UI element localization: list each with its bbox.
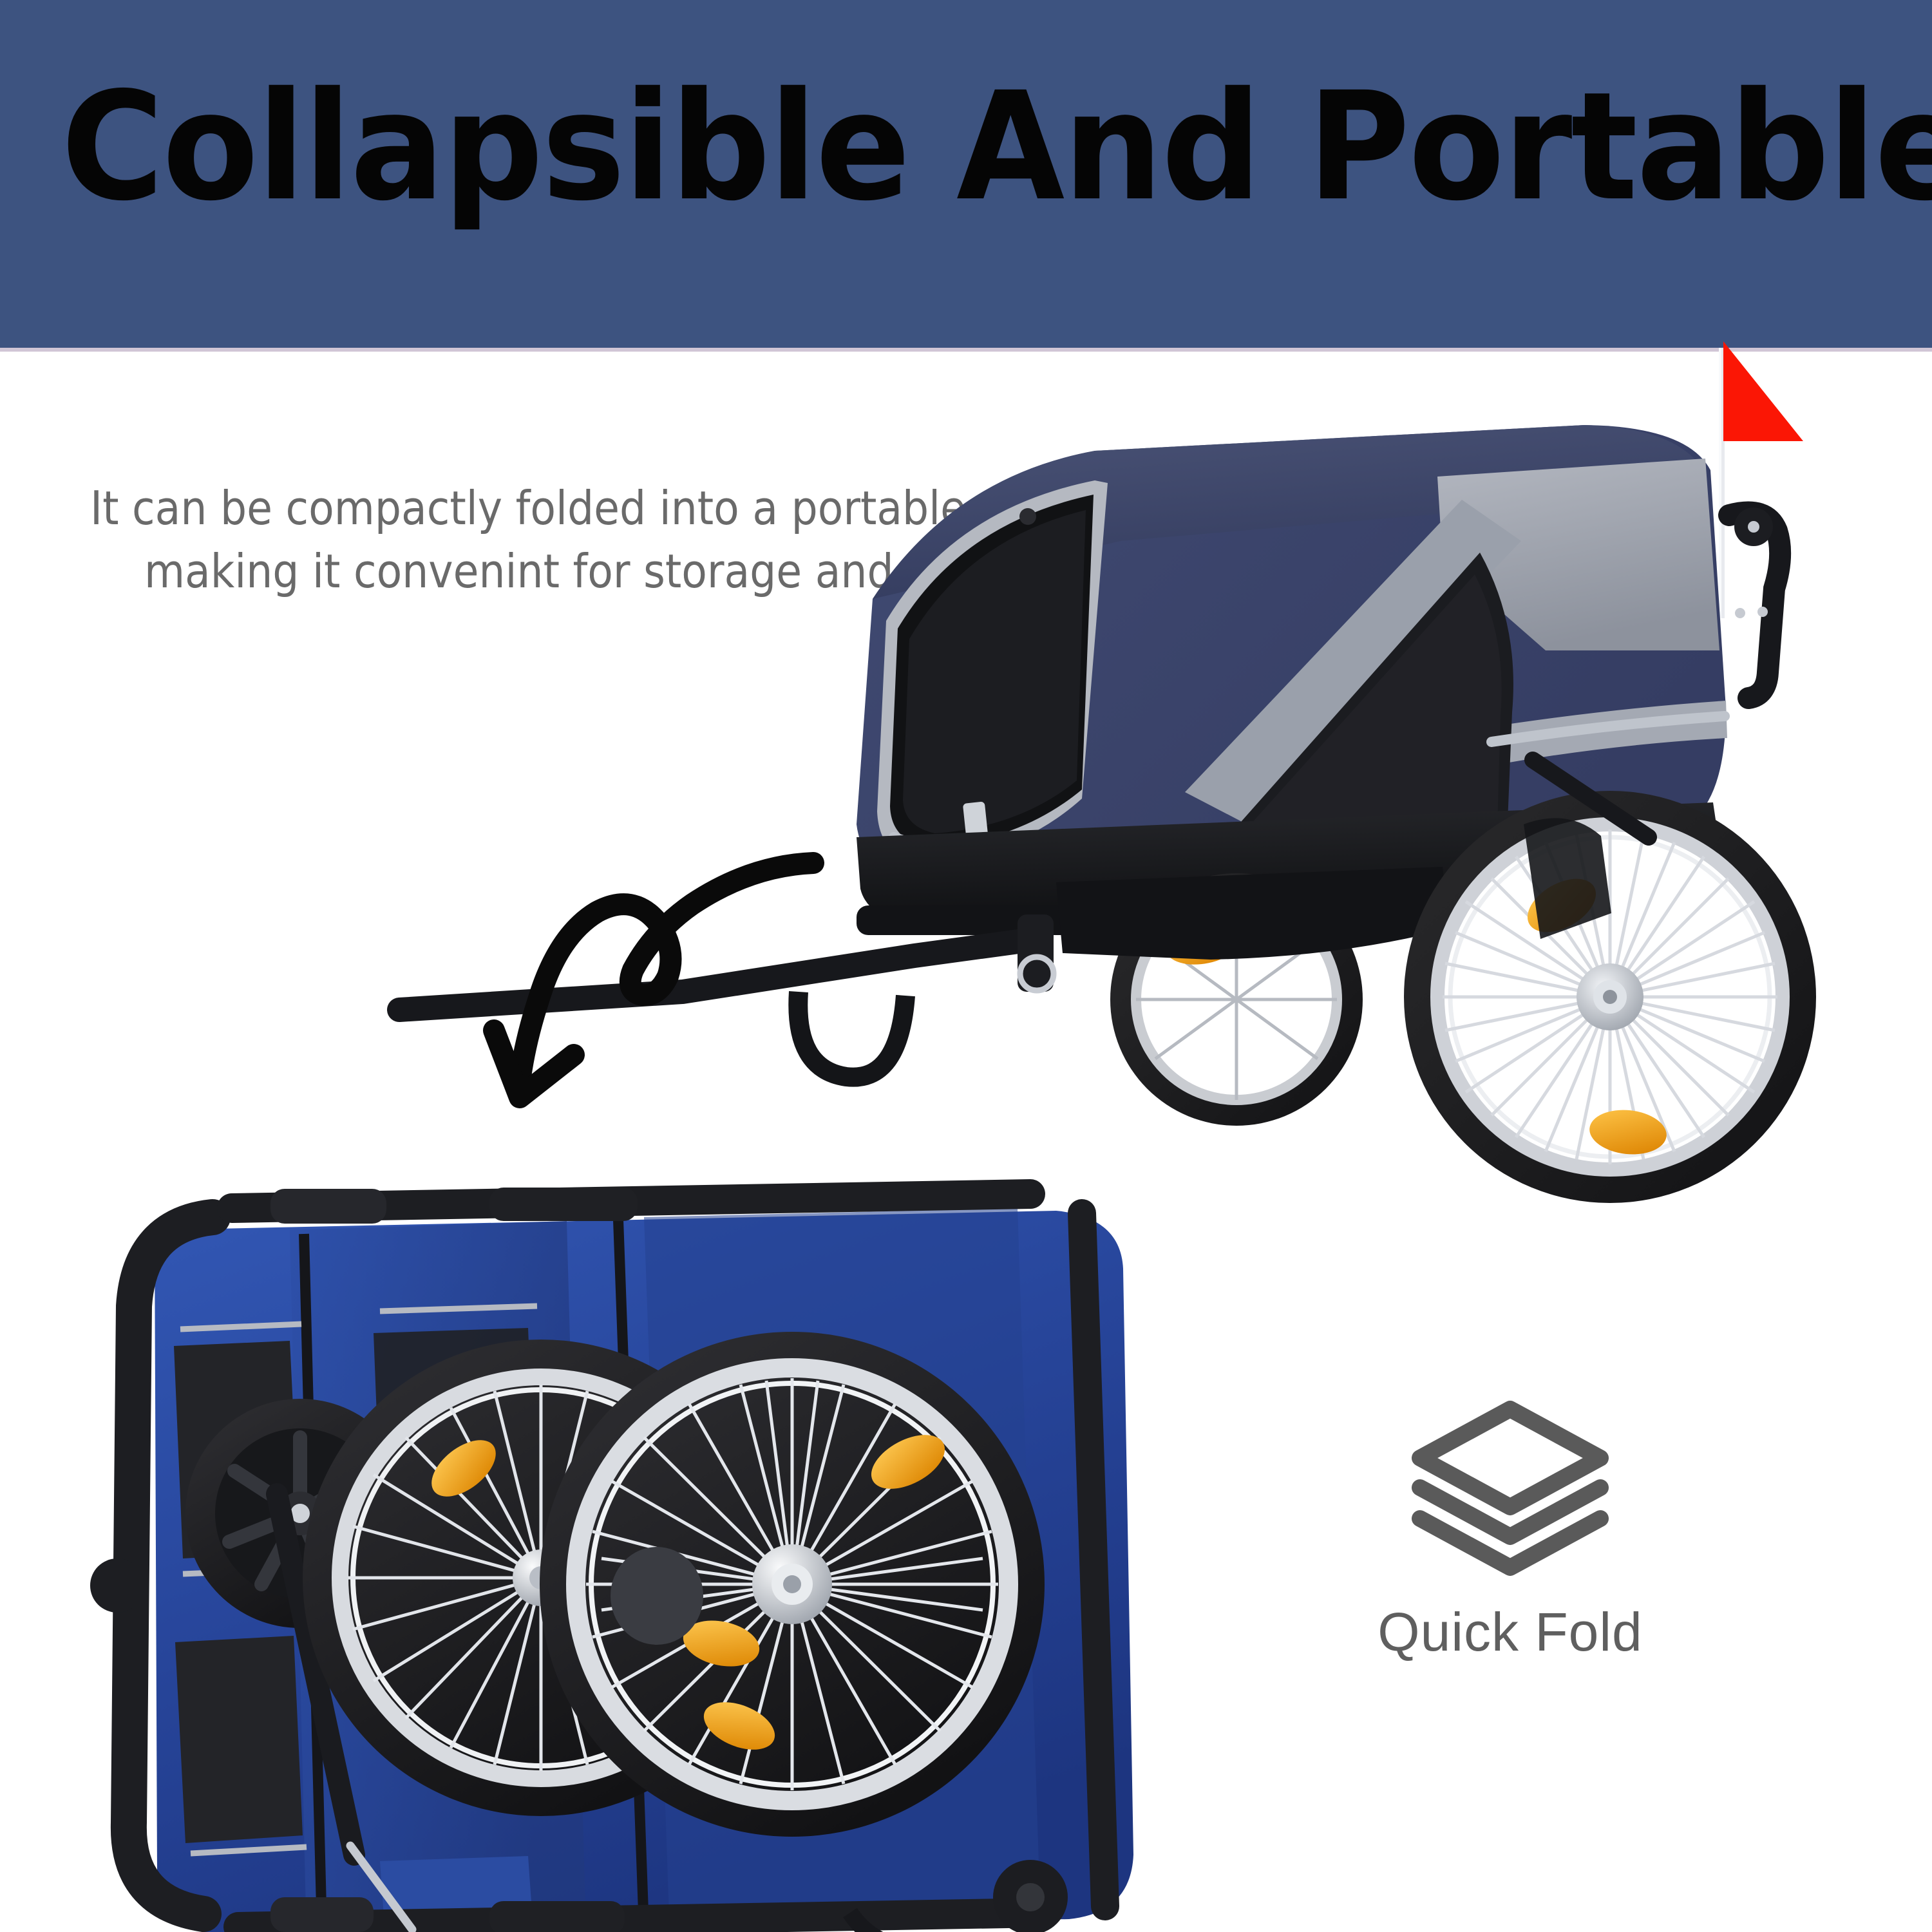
frame-knob bbox=[90, 1558, 144, 1613]
mesh-panel-left2 bbox=[175, 1636, 303, 1843]
product-feature-page: Collapsible And Portable It can be compa… bbox=[0, 0, 1932, 1932]
front-wheel bbox=[1056, 867, 1449, 1126]
curved-arrow-annotation bbox=[480, 837, 840, 1133]
page-title: Collapsible And Portable bbox=[61, 71, 1932, 223]
mesh-window bbox=[877, 480, 1108, 863]
safety-flag bbox=[1719, 341, 1803, 618]
folded-trailer-photo bbox=[77, 1191, 1211, 1932]
hub-disc bbox=[611, 1547, 703, 1645]
large-wheel-front bbox=[540, 1332, 1045, 1837]
layers-stack-icon bbox=[1401, 1391, 1620, 1584]
quick-fold-feature: Quick Fold bbox=[1323, 1391, 1697, 1663]
push-handle bbox=[1729, 507, 1780, 698]
assembled-trailer-photo bbox=[760, 348, 1932, 1249]
quick-fold-label: Quick Fold bbox=[1323, 1601, 1697, 1663]
